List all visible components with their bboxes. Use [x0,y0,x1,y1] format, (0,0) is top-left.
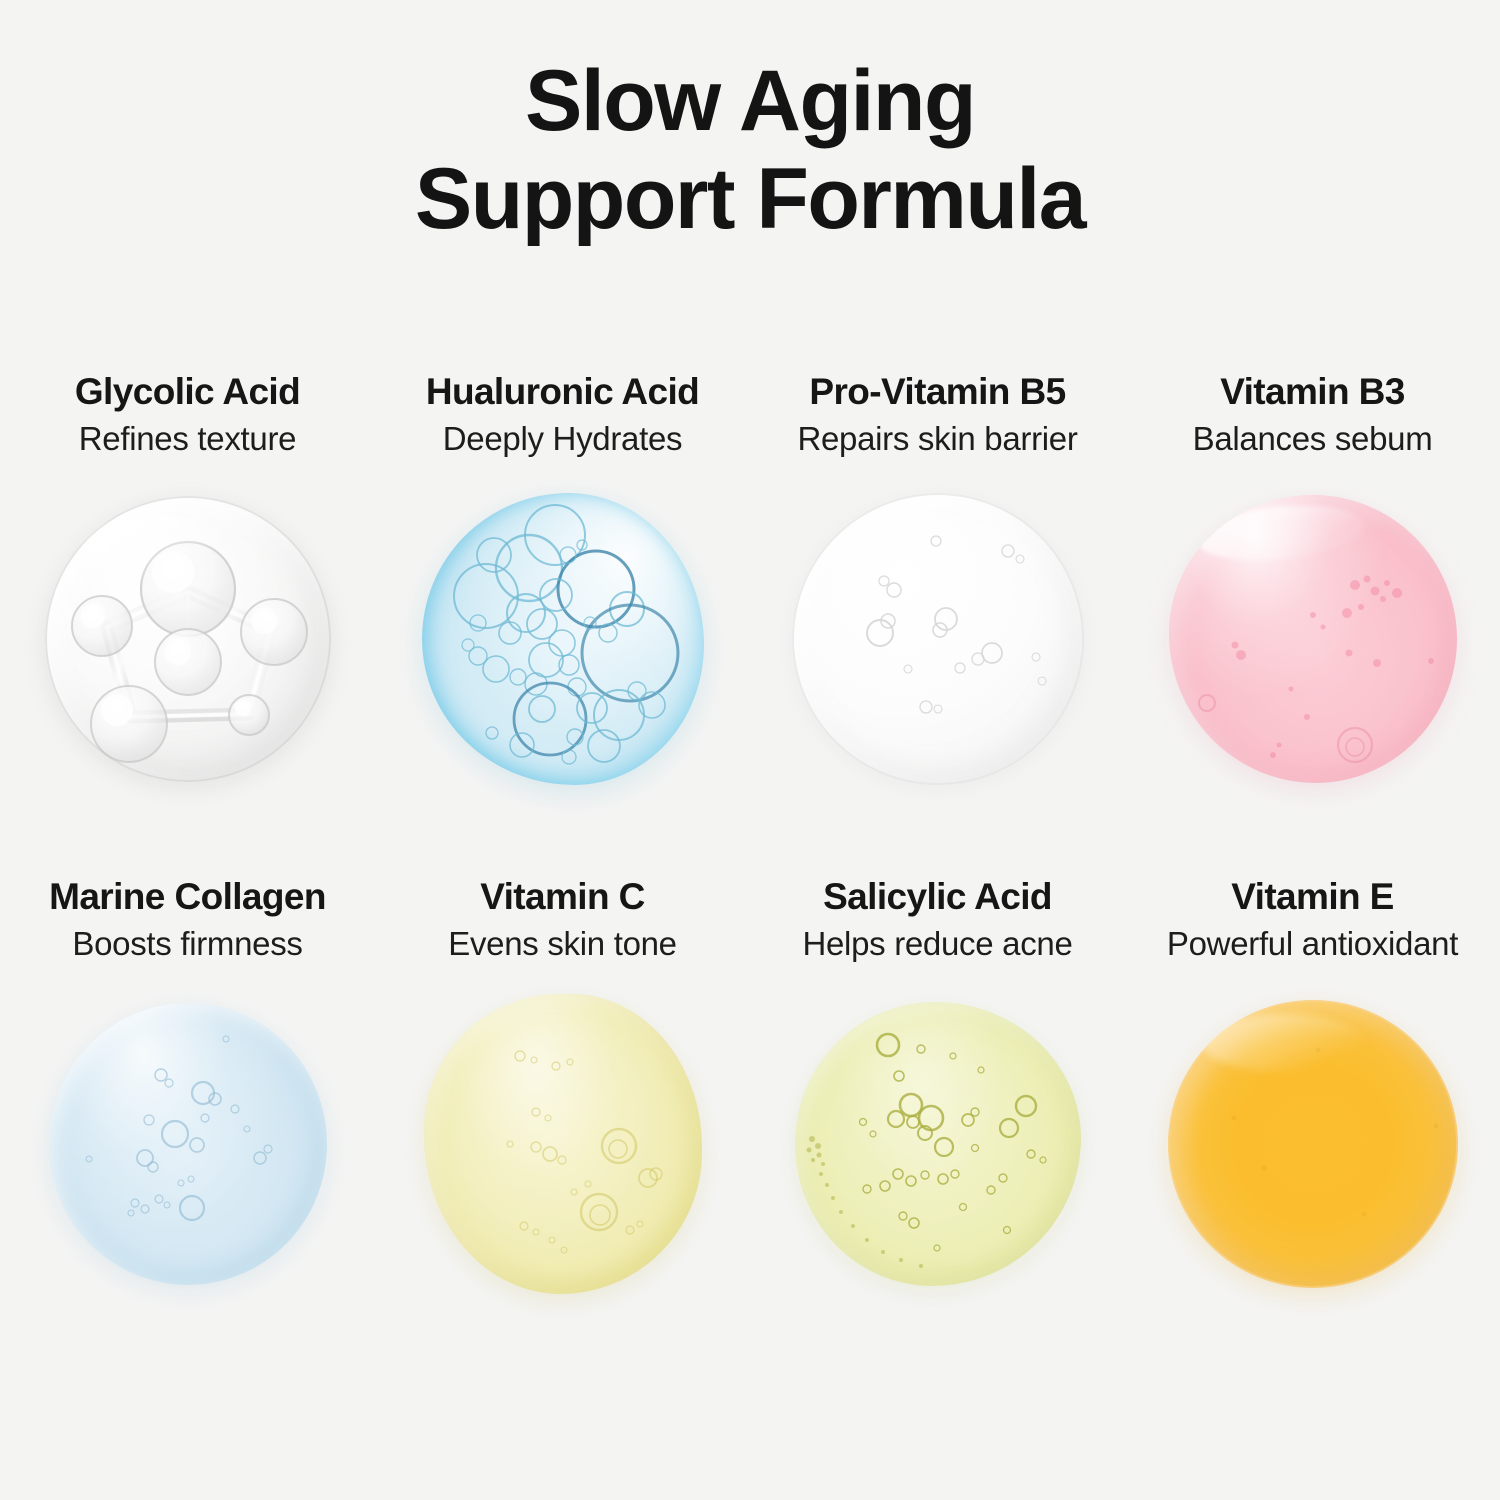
ingredient-card-salicylic-acid: Salicylic Acid Helps reduce acne [750,875,1125,1380]
bubbles-overlay-icon [795,1002,1081,1286]
swatch-salicylic-acid [788,989,1088,1299]
bubbles-overlay-icon [1169,495,1457,783]
transparent-gel-drop-icon [792,493,1084,785]
ingredient-card-hualuronic-acid: Hualuronic Acid Deeply Hydrates [375,370,750,875]
ingredient-description: Deeply Hydrates [443,418,682,460]
blue-bubble-gel-drop-icon [422,493,704,785]
bubbles-overlay-icon [49,1003,327,1285]
swatch-marine-collagen [38,989,338,1299]
pink-gel-drop-icon [1169,495,1457,783]
pale-yellow-oil-drop-icon [424,994,702,1294]
bubbles-overlay-icon [1168,1000,1458,1288]
molecule-diagram-icon [45,496,331,782]
title-line-1: Slow Aging [0,52,1500,150]
ingredient-card-pro-vitamin-b5: Pro-Vitamin B5 Repairs skin barrier [750,370,1125,875]
ingredient-name: Vitamin E [1231,875,1394,919]
ingredient-description: Helps reduce acne [802,923,1072,965]
ingredient-description: Balances sebum [1193,418,1433,460]
swatch-hualuronic-acid [413,484,713,794]
ingredient-card-vitamin-e: Vitamin E Powerful antioxidant [1125,875,1500,1380]
ingredient-name: Vitamin B3 [1220,370,1405,414]
swatch-vitamin-b3 [1163,484,1463,794]
ingredient-description: Powerful antioxidant [1167,923,1458,965]
ingredient-description: Refines texture [79,418,296,460]
page-title: Slow Aging Support Formula [0,52,1500,248]
bubbles-overlay-icon [424,994,702,1294]
ingredient-name: Salicylic Acid [823,875,1052,919]
swatch-vitamin-e [1163,989,1463,1299]
clear-molecule-sphere-icon [45,496,331,782]
ingredient-name: Vitamin C [480,875,645,919]
ingredient-name: Marine Collagen [49,875,326,919]
bubbles-overlay-icon [792,493,1084,785]
ingredient-name: Hualuronic Acid [426,370,699,414]
amber-oil-drop-icon [1168,1000,1458,1288]
ingredient-card-marine-collagen: Marine Collagen Boosts firmness [0,875,375,1380]
swatch-vitamin-c [413,989,713,1299]
ingredient-grid: Glycolic Acid Refines texture [0,370,1500,1380]
title-line-2: Support Formula [0,150,1500,248]
pale-blue-gel-drop-icon [49,1003,327,1285]
ingredient-description: Repairs skin barrier [797,418,1077,460]
ingredient-card-vitamin-c: Vitamin C Evens skin tone [375,875,750,1380]
ingredient-description: Evens skin tone [448,923,676,965]
bubbles-overlay-icon [422,493,704,785]
ingredient-name: Pro-Vitamin B5 [809,370,1065,414]
swatch-pro-vitamin-b5 [788,484,1088,794]
ingredient-name: Glycolic Acid [75,370,300,414]
chartreuse-serum-drop-icon [795,1002,1081,1286]
swatch-glycolic-acid [38,484,338,794]
ingredient-card-vitamin-b3: Vitamin B3 Balances sebum [1125,370,1500,875]
ingredient-description: Boosts firmness [72,923,302,965]
ingredient-card-glycolic-acid: Glycolic Acid Refines texture [0,370,375,875]
